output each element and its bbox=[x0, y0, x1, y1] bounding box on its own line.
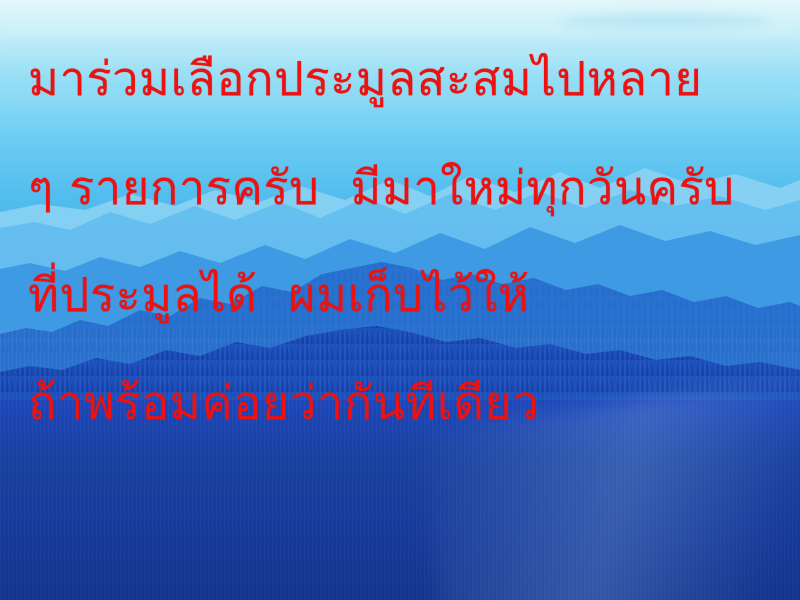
caption-overlay: มาร่วมเลือกประมูลสะสมไปหลาย ๆ รายการครับ… bbox=[0, 0, 800, 600]
caption-line-4: ถ้าพร้อมค่อยว่ากันทีเดียว bbox=[28, 380, 539, 427]
banner-image: มาร่วมเลือกประมูลสะสมไปหลาย ๆ รายการครับ… bbox=[0, 0, 800, 600]
caption-line-1: มาร่วมเลือกประมูลสะสมไปหลาย bbox=[28, 56, 702, 103]
caption-line-2: ๆ รายการครับ มีมาใหม่ทุกวันครับ bbox=[28, 165, 735, 212]
caption-line-3: ที่ประมูลได้ ผมเก็บไว้ให้ bbox=[28, 272, 529, 319]
